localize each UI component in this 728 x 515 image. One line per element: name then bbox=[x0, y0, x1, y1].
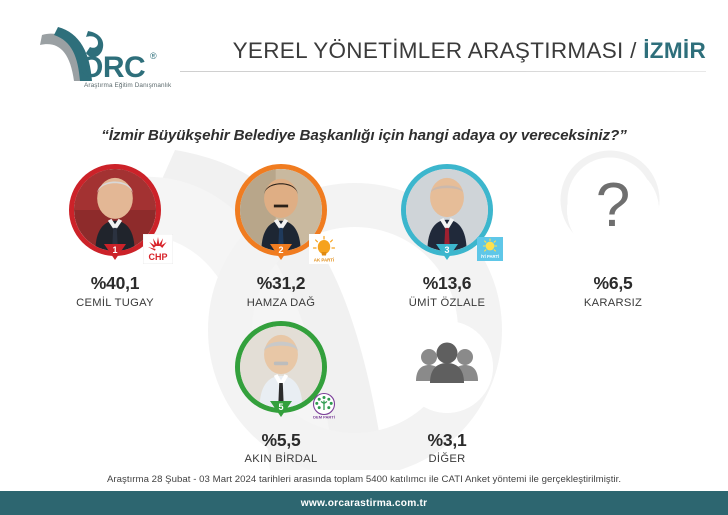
page-header: ORC ® Araştırma Eğitim Danışmanlık YEREL… bbox=[0, 0, 728, 110]
svg-text:DEM PARTİ: DEM PARTİ bbox=[313, 414, 335, 419]
chp-logo-icon: CHP bbox=[143, 234, 173, 264]
page-title-city: İZMİR bbox=[643, 38, 706, 63]
result-name: AKIN BİRDAL bbox=[245, 454, 318, 465]
rank-number: 5 bbox=[278, 403, 283, 412]
svg-text:ORC: ORC bbox=[80, 51, 145, 84]
other-ring bbox=[401, 321, 493, 413]
poll-infographic: R ORC ® Araştırma Eğitim Danışmanlık YER… bbox=[0, 0, 728, 515]
page-title: YEREL YÖNETİMLER ARAŞTIRMASI / İZMİR bbox=[233, 38, 706, 71]
svg-text:AK PARTİ: AK PARTİ bbox=[314, 258, 334, 263]
candidate-pin: 3 İYİ PARTİ bbox=[397, 164, 497, 268]
rank-number: 1 bbox=[112, 246, 117, 255]
orc-logo: ORC ® Araştırma Eğitim Danışmanlık bbox=[0, 19, 180, 91]
result-percent: %40,1 bbox=[91, 275, 140, 293]
rank-number: 3 bbox=[444, 246, 449, 255]
svg-text:?: ? bbox=[596, 171, 630, 240]
result-name: KARARSIZ bbox=[584, 298, 642, 309]
undecided-ring: ? bbox=[567, 164, 659, 256]
result-item-diger[interactable]: 6 %3,1 DİĞER bbox=[377, 321, 517, 466]
candidate-pin: 5 DEM PARTİ bbox=[231, 321, 331, 425]
website-bar[interactable]: www.orcarastirma.com.tr bbox=[0, 491, 728, 515]
results-row-1: 1 CHP %40,1 bbox=[0, 164, 728, 309]
result-percent: %13,6 bbox=[423, 275, 472, 293]
result-item-cemil-tugay[interactable]: 1 CHP %40,1 bbox=[45, 164, 185, 309]
result-name: DİĞER bbox=[429, 454, 466, 465]
svg-text:İYİ PARTİ: İYİ PARTİ bbox=[481, 254, 500, 259]
page-title-block: YEREL YÖNETİMLER ARAŞTIRMASI / İZMİR bbox=[180, 38, 728, 73]
rank-number: 4 bbox=[610, 246, 615, 255]
results-grid: 1 CHP %40,1 bbox=[0, 164, 728, 465]
result-percent: %5,5 bbox=[261, 432, 300, 450]
svg-text:CHP: CHP bbox=[148, 252, 167, 262]
other-pin: 6 bbox=[397, 321, 497, 425]
akparti-logo-icon: AK PARTİ bbox=[309, 234, 339, 264]
survey-question: “İzmir Büyükşehir Belediye Başkanlığı iç… bbox=[0, 127, 728, 144]
question-mark-icon: ? bbox=[567, 164, 659, 256]
result-percent: %6,5 bbox=[593, 275, 632, 293]
iyiparti-logo-icon: İYİ PARTİ bbox=[475, 234, 505, 264]
svg-text:®: ® bbox=[150, 51, 157, 61]
result-item-akin-birdal[interactable]: 5 DEM PARTİ bbox=[211, 321, 351, 466]
demparti-logo-icon: DEM PARTİ bbox=[309, 391, 339, 421]
methodology-note: Araştırma 28 Şubat - 03 Mart 2024 tarihl… bbox=[0, 474, 728, 485]
result-name: HAMZA DAĞ bbox=[247, 298, 316, 309]
candidate-pin: 2 AK PARTİ bbox=[231, 164, 331, 268]
title-divider bbox=[180, 71, 706, 73]
results-row-2: 5 DEM PARTİ bbox=[0, 321, 728, 466]
orc-logo-icon: ORC ® Araştırma Eğitim Danışmanlık bbox=[28, 19, 178, 91]
undecided-pin: ? 4 bbox=[563, 164, 663, 268]
orc-logo-tagline: Araştırma Eğitim Danışmanlık bbox=[84, 82, 172, 89]
result-item-kararsiz[interactable]: ? 4 %6,5 KARARSIZ bbox=[543, 164, 683, 309]
result-name: CEMİL TUGAY bbox=[76, 298, 154, 309]
result-item-hamza-dag[interactable]: 2 AK PARTİ bbox=[211, 164, 351, 309]
result-name: ÜMİT ÖZLALE bbox=[409, 298, 485, 309]
result-percent: %3,1 bbox=[427, 432, 466, 450]
rank-number: 2 bbox=[278, 246, 283, 255]
people-group-icon bbox=[401, 321, 493, 413]
rank-number: 6 bbox=[444, 403, 449, 412]
result-percent: %31,2 bbox=[257, 275, 306, 293]
page-title-main: YEREL YÖNETİMLER ARAŞTIRMASI / bbox=[233, 38, 644, 63]
website-url[interactable]: www.orcarastirma.com.tr bbox=[301, 498, 428, 509]
result-item-umit-ozlale[interactable]: 3 İYİ PARTİ bbox=[377, 164, 517, 309]
candidate-pin: 1 CHP bbox=[65, 164, 165, 268]
